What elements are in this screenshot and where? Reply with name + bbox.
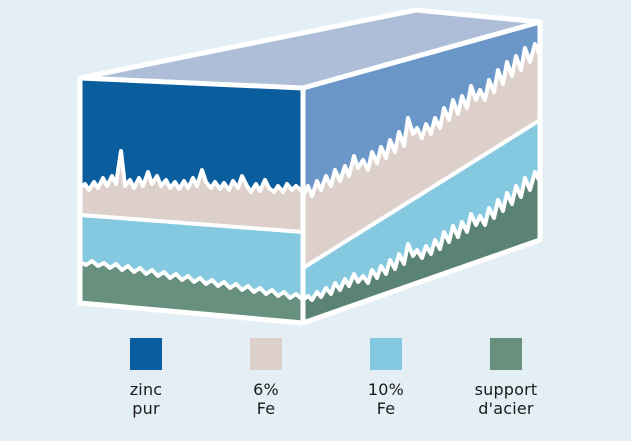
legend-label-zinc-pur: zinc pur	[130, 380, 163, 418]
legend-swatch-6pct-fe	[250, 338, 282, 370]
figure-canvas: zinc pur 6% Fe 10% Fe support d'acier	[0, 0, 631, 441]
block-front-face	[70, 70, 315, 335]
legend: zinc pur 6% Fe 10% Fe support d'acier	[0, 338, 631, 441]
legend-item-zinc-pur[interactable]: zinc pur	[86, 338, 206, 418]
legend-swatch-zinc-pur	[130, 338, 162, 370]
legend-item-support-acier[interactable]: support d'acier	[446, 338, 566, 418]
legend-label-6pct-fe: 6% Fe	[253, 380, 279, 418]
legend-swatch-10pct-fe	[370, 338, 402, 370]
legend-item-10pct-fe[interactable]: 10% Fe	[326, 338, 446, 418]
legend-label-support-acier: support d'acier	[475, 380, 538, 418]
legend-item-6pct-fe[interactable]: 6% Fe	[206, 338, 326, 418]
legend-swatch-support-acier	[490, 338, 522, 370]
legend-label-10pct-fe: 10% Fe	[368, 380, 404, 418]
